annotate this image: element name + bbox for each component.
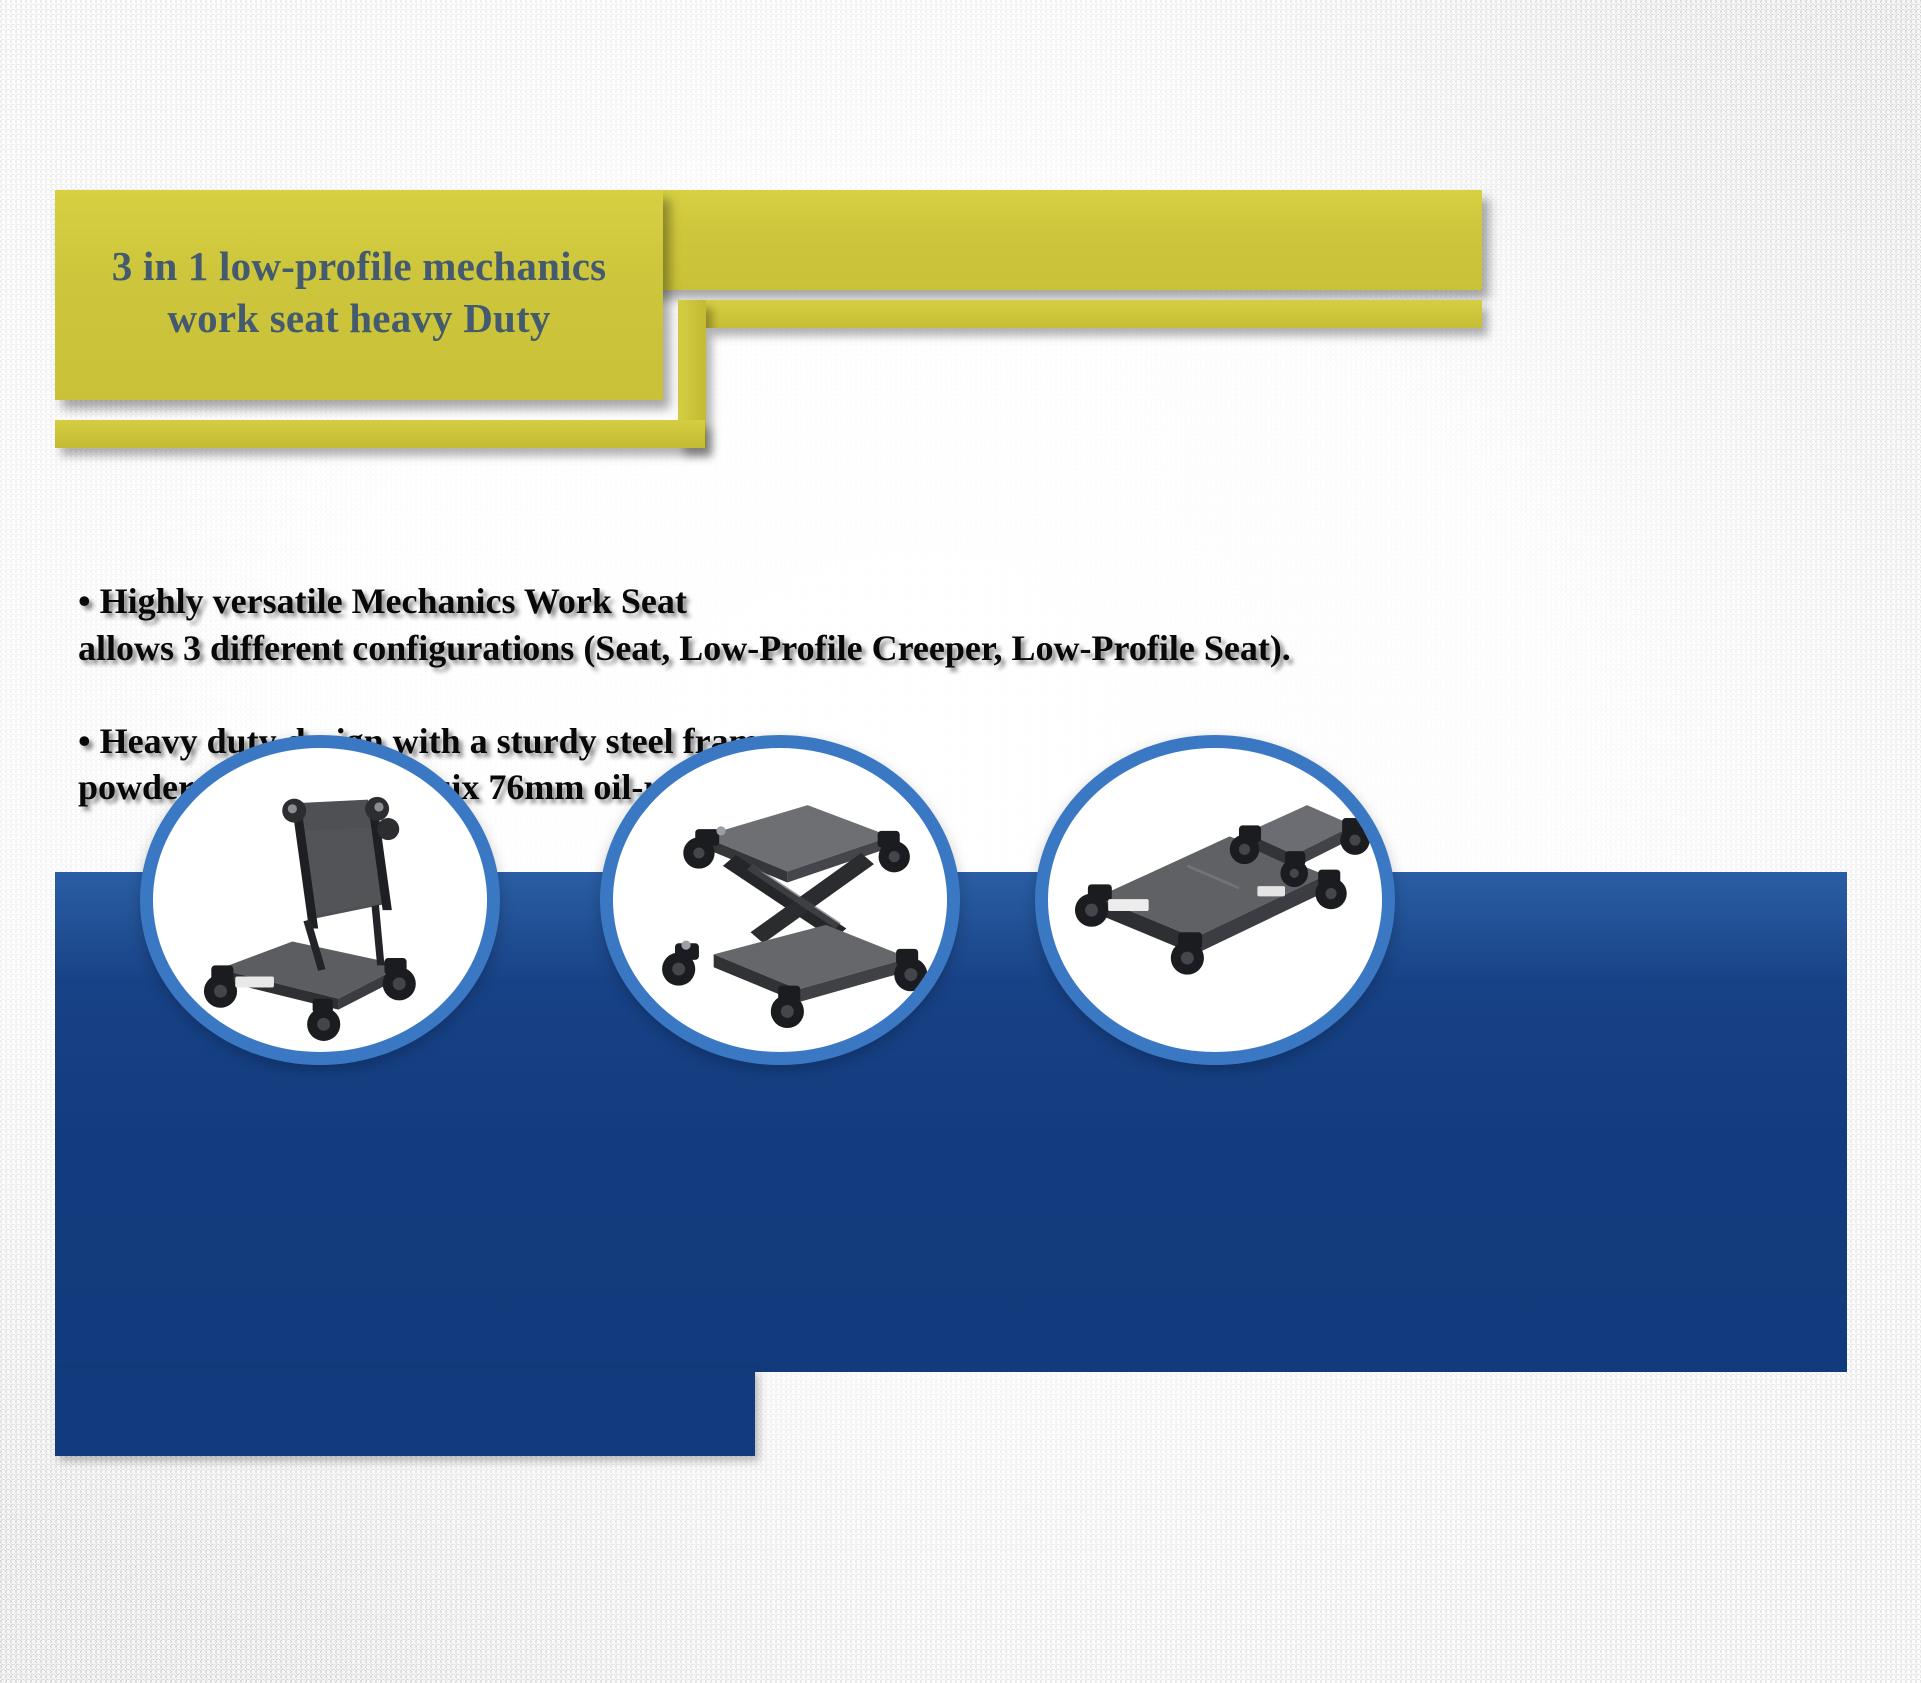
slide-canvas: 3 in 1 low-profile mechanics work seat h…: [0, 0, 1921, 1683]
seat-configuration-icon: [153, 748, 487, 1052]
product-image-group: [0, 0, 1921, 1683]
flat-configuration-icon: [1048, 748, 1382, 1052]
creeper-configuration-icon: [613, 748, 947, 1052]
product-photo-flat: [1035, 735, 1395, 1065]
product-photo-creeper: [600, 735, 960, 1065]
product-photo-seat: [140, 735, 500, 1065]
